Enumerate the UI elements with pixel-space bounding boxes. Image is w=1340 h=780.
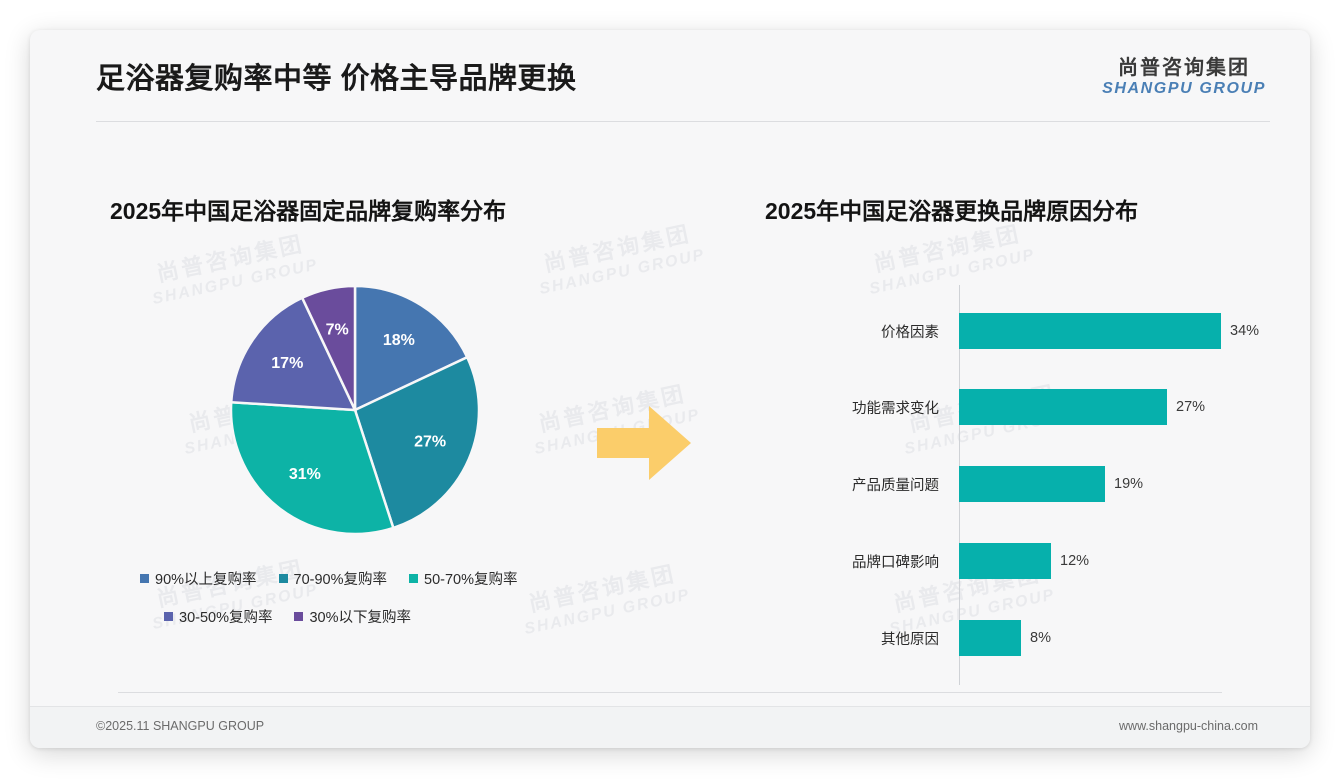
bar-category-label: 价格因素 — [765, 321, 949, 342]
bar-value-label: 34% — [1230, 323, 1259, 339]
legend-swatch-icon — [294, 612, 303, 621]
bar-fill — [959, 313, 1221, 349]
watermark-cn: 尚普咨询集团 — [532, 218, 703, 280]
legend-swatch-icon — [409, 574, 418, 583]
legend-swatch-icon — [140, 574, 149, 583]
bar-row-4[interactable]: 其他原因 8% — [765, 620, 1265, 656]
bar-value-label: 27% — [1176, 399, 1205, 415]
bar-category-label: 品牌口碑影响 — [765, 551, 949, 572]
logo-cn-text: 尚普咨询集团 — [1102, 58, 1266, 79]
legend-label: 90%以上复购率 — [155, 568, 257, 589]
legend-item-3[interactable]: 30-50%复购率 — [164, 606, 272, 627]
bar-fill — [959, 466, 1105, 502]
slide-canvas: 尚普咨询集团 SHANGPU GROUP 尚普咨询集团 SHANGPU GROU… — [30, 30, 1310, 748]
company-logo: 尚普咨询集团 SHANGPU GROUP — [1102, 58, 1266, 98]
legend-row: 30-50%复购率 30%以下复购率 — [140, 606, 610, 627]
page-title: 足浴器复购率中等 价格主导品牌更换 — [96, 55, 577, 97]
bar-fill — [959, 389, 1167, 425]
pie-slice-label-1: 27% — [414, 434, 446, 451]
bar-row-2[interactable]: 产品质量问题 19% — [765, 466, 1265, 502]
pie-chart: 18%27%31%17%7% — [215, 270, 495, 550]
bar-chart-title: 2025年中国足浴器更换品牌原因分布 — [765, 192, 1138, 226]
pie-chart-legend: 90%以上复购率 70-90%复购率 50-70%复购率 30-50%复购率 3… — [140, 568, 610, 644]
bar-category-label: 其他原因 — [765, 628, 949, 649]
pie-chart-svg: 18%27%31%17%7% — [215, 270, 495, 550]
bar-row-1[interactable]: 功能需求变化 27% — [765, 389, 1265, 425]
legend-label: 50-70%复购率 — [424, 568, 517, 589]
bar-fill — [959, 543, 1051, 579]
bar-value-label: 8% — [1030, 630, 1051, 646]
legend-label: 30-50%复购率 — [179, 606, 272, 627]
legend-item-0[interactable]: 90%以上复购率 — [140, 568, 257, 589]
pie-slice-label-3: 17% — [271, 355, 303, 372]
bar-value-label: 12% — [1060, 553, 1089, 569]
bar-value-label: 19% — [1114, 476, 1143, 492]
logo-en-text: SHANGPU GROUP — [1102, 81, 1266, 98]
pie-slice-label-4: 7% — [326, 321, 349, 338]
legend-row: 90%以上复购率 70-90%复购率 50-70%复购率 — [140, 568, 610, 589]
legend-swatch-icon — [164, 612, 173, 621]
pie-chart-title: 2025年中国足浴器固定品牌复购率分布 — [110, 192, 506, 226]
bar-category-label: 功能需求变化 — [765, 397, 949, 418]
legend-swatch-icon — [279, 574, 288, 583]
bar-row-0[interactable]: 价格因素 34% — [765, 313, 1265, 349]
header-divider — [96, 121, 1270, 122]
bar-fill — [959, 620, 1021, 656]
pie-slice-label-2: 31% — [289, 466, 321, 483]
legend-item-1[interactable]: 70-90%复购率 — [279, 568, 387, 589]
legend-label: 70-90%复购率 — [294, 568, 387, 589]
legend-item-2[interactable]: 50-70%复购率 — [409, 568, 517, 589]
bar-chart: 价格因素 34% 功能需求变化 27% 产品质量问题 19% 品牌口碑影响 12… — [765, 285, 1265, 685]
legend-item-4[interactable]: 30%以下复购率 — [294, 606, 411, 627]
note-divider — [118, 692, 1222, 693]
slide-footer: ©2025.11 SHANGPU GROUP www.shangpu-china… — [30, 706, 1310, 748]
pie-slice-label-0: 18% — [383, 332, 415, 349]
legend-label: 30%以下复购率 — [309, 606, 411, 627]
watermark: 尚普咨询集团 SHANGPU GROUP — [532, 218, 707, 300]
watermark-en: SHANGPU GROUP — [538, 245, 708, 300]
bar-category-label: 产品质量问题 — [765, 474, 949, 495]
watermark-cn: 尚普咨询集团 — [862, 218, 1033, 280]
bar-row-3[interactable]: 品牌口碑影响 12% — [765, 543, 1265, 579]
website-link[interactable]: www.shangpu-china.com — [1119, 719, 1258, 733]
slide-header: 足浴器复购率中等 价格主导品牌更换 尚普咨询集团 SHANGPU GROUP — [30, 30, 1310, 122]
flow-arrow-right-icon — [595, 402, 695, 489]
copyright-text: ©2025.11 SHANGPU GROUP — [96, 719, 264, 733]
